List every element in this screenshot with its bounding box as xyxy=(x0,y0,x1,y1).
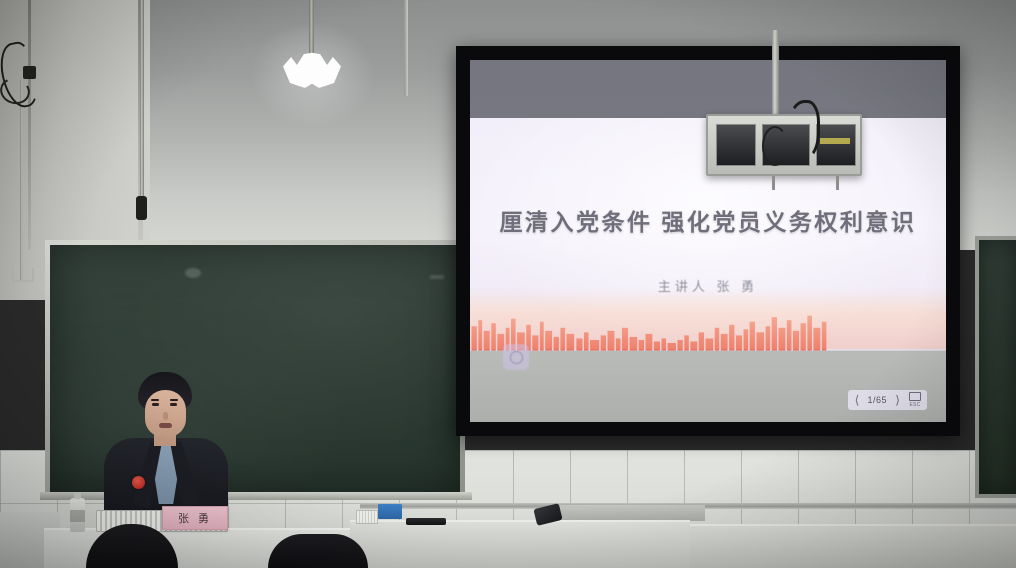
chalk-smudge xyxy=(430,275,444,279)
slide-title: 厘清入党条件 强化党员义务权利意识 xyxy=(470,203,946,237)
cabinet-leg xyxy=(836,176,839,190)
audience-head xyxy=(268,534,368,568)
ceiling-pipe xyxy=(404,0,408,96)
slide-foreground-band xyxy=(470,351,946,422)
slide-subtitle: 主讲人 张 勇 xyxy=(470,276,946,295)
party-badge-icon xyxy=(132,476,145,489)
chalk-smudge xyxy=(185,268,201,278)
desk-edge xyxy=(555,505,705,521)
conduit-bracket xyxy=(12,268,34,282)
nameplate: 张 勇 xyxy=(162,506,228,530)
long-desk-center xyxy=(350,520,690,568)
chevron-right-icon[interactable]: ⟩ xyxy=(893,394,902,406)
eyebrow-left xyxy=(151,399,159,401)
water-bottle xyxy=(70,498,85,532)
wall-pillar-a xyxy=(28,0,31,250)
long-desk-right xyxy=(690,524,1016,568)
wall-conduit xyxy=(20,80,23,280)
cabinet-label xyxy=(820,138,850,144)
page-indicator: 1/65 xyxy=(865,395,889,405)
eye-right xyxy=(170,403,177,406)
cabinet-cable xyxy=(762,126,788,166)
scene-root: 厘清入党条件 强化党员义务权利意识 主讲人 张 勇 ⟨ 1/65 ⟩ ESC xyxy=(0,0,1016,568)
ceiling-hanger-rod xyxy=(140,0,144,216)
wps-logo-icon xyxy=(503,344,529,370)
cabinet-leg xyxy=(772,176,775,190)
remote-control xyxy=(406,518,446,525)
bottle-label xyxy=(70,510,85,522)
white-container xyxy=(356,510,378,524)
eye-left xyxy=(152,403,159,406)
chevron-left-icon[interactable]: ⟨ xyxy=(853,394,862,406)
mouth xyxy=(159,423,172,428)
monitor-esc-icon[interactable]: ESC xyxy=(908,392,922,407)
chalkboard-right xyxy=(975,236,1016,498)
eyebrow-right xyxy=(170,399,178,401)
projector-mount-pole xyxy=(772,30,779,116)
cabinet-window xyxy=(816,124,856,166)
nose xyxy=(163,412,168,420)
lamp-rod xyxy=(309,0,314,58)
slide-navigation-bar[interactable]: ⟨ 1/65 ⟩ ESC xyxy=(848,390,927,410)
hanger-tip xyxy=(136,196,147,220)
sunset-haze xyxy=(470,288,946,349)
blue-box xyxy=(378,504,402,519)
speaker-face xyxy=(145,390,186,437)
cabinet-cable xyxy=(786,100,820,160)
cabinet-window xyxy=(716,124,756,166)
esc-label: ESC xyxy=(908,402,922,408)
projection-screen[interactable]: 厘清入党条件 强化党员义务权利意识 主讲人 张 勇 ⟨ 1/65 ⟩ ESC xyxy=(456,46,960,436)
